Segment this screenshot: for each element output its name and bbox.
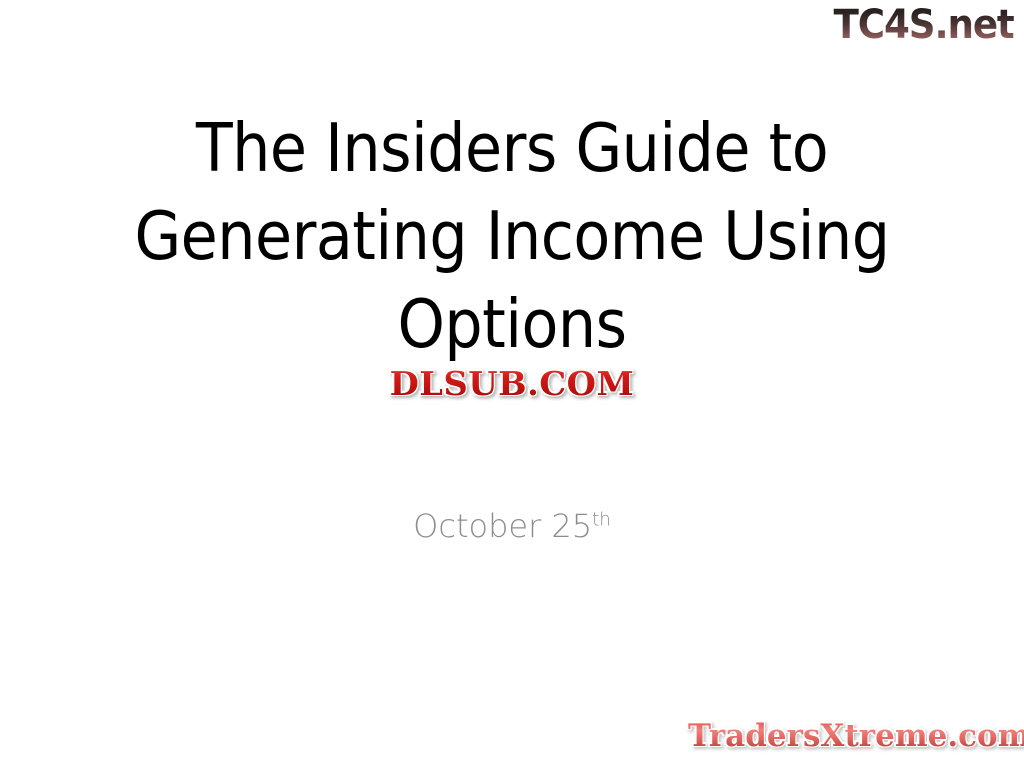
title-line-1: The Insiders Guide to — [62, 104, 962, 192]
subtitle-date-text: October 25 — [413, 507, 592, 545]
tradersxtreme-com-logo: TradersXtreme.com — [688, 718, 1024, 754]
subtitle-date-ordinal: th — [592, 509, 611, 530]
tc4s-net-logo: TC4S.net — [834, 2, 1014, 48]
dlsub-com-watermark: DLSUB.COM — [390, 366, 635, 402]
slide-title: The Insiders Guide to Generating Income … — [62, 104, 962, 368]
title-line-3: Options — [62, 280, 962, 368]
presentation-slide: TC4S.net The Insiders Guide to Generatin… — [0, 0, 1024, 768]
subtitle-date: October 25th — [62, 505, 962, 547]
title-line-2: Generating Income Using — [62, 192, 962, 280]
slide-subtitle: October 25th — [62, 505, 962, 547]
dlsub-watermark-container: DLSUB.COM — [0, 366, 1024, 402]
